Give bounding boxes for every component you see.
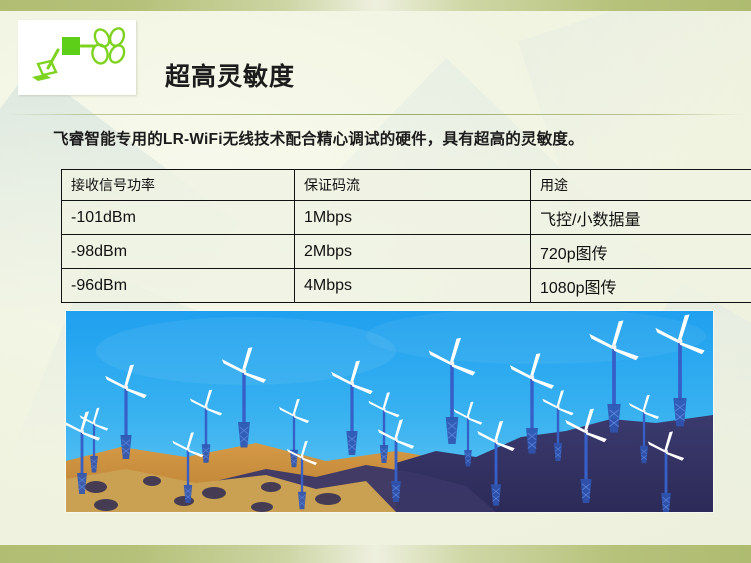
bottom-accent-band — [0, 545, 751, 563]
table-cell-usage: 1080p图传 — [531, 269, 751, 303]
table-header: 接收信号功率 保证码流 用途 — [62, 170, 751, 201]
table-cell-usage: 720p图传 — [531, 235, 751, 269]
logo-tile — [18, 20, 136, 95]
table-row: -101dBm 1Mbps 飞控/小数据量 — [62, 201, 751, 235]
slide: 超高灵敏度 飞睿智能专用的LR-WiFi无线技术配合精心调试的硬件，具有超高的灵… — [0, 0, 751, 563]
wind-farm-illustration — [66, 311, 713, 512]
table-cell-signal-power: -98dBm — [62, 235, 295, 269]
table-header-cell-bitrate: 保证码流 — [295, 170, 531, 201]
table-row: -96dBm 4Mbps 1080p图传 — [62, 269, 751, 303]
table-cell-signal-power: -96dBm — [62, 269, 295, 303]
table-body: -101dBm 1Mbps 飞控/小数据量 -98dBm 2Mbps 720p图… — [62, 201, 751, 303]
table-cell-bitrate: 1Mbps — [295, 201, 531, 235]
wind-farm-photo — [66, 311, 713, 512]
table-header-cell-signal-power: 接收信号功率 — [62, 170, 295, 201]
table-header-cell-usage: 用途 — [531, 170, 751, 201]
header-divider — [6, 114, 745, 115]
network-logo-icon — [18, 20, 136, 95]
table-cell-bitrate: 4Mbps — [295, 269, 531, 303]
table-header-row: 接收信号功率 保证码流 用途 — [62, 170, 751, 201]
page-title: 超高灵敏度 — [165, 57, 295, 93]
top-accent-band — [0, 0, 751, 11]
sensitivity-table: 接收信号功率 保证码流 用途 -101dBm 1Mbps 飞控/小数据量 -98… — [61, 169, 751, 303]
body-paragraph: 飞睿智能专用的LR-WiFi无线技术配合精心调试的硬件，具有超高的灵敏度。 — [53, 127, 584, 149]
table-cell-bitrate: 2Mbps — [295, 235, 531, 269]
table-cell-signal-power: -101dBm — [62, 201, 295, 235]
table-row: -98dBm 2Mbps 720p图传 — [62, 235, 751, 269]
table-cell-usage: 飞控/小数据量 — [531, 201, 751, 235]
